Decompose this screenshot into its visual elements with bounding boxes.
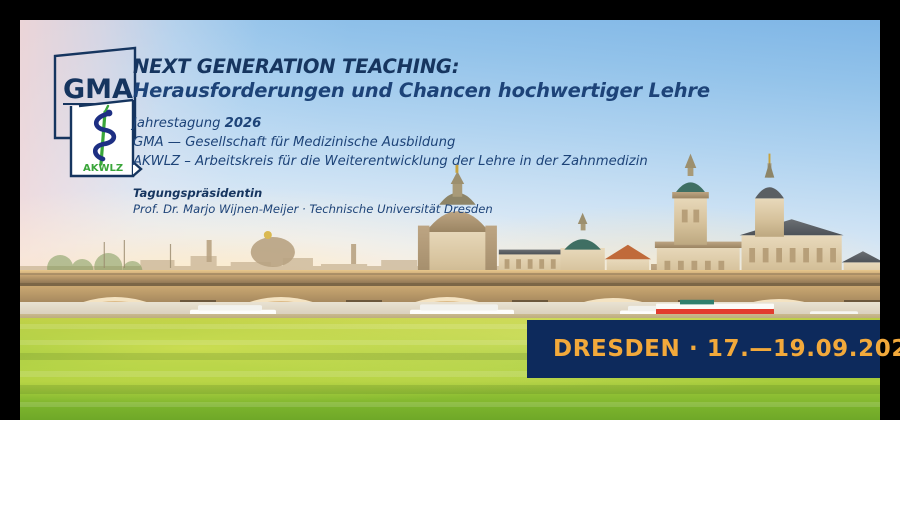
subtitle-line-gma: GMA — Gesellschaft für Medizinische Ausb… (133, 134, 873, 153)
president-name: Prof. Dr. Marjo Wijnen-Meijer · Technisc… (133, 201, 873, 217)
headline-secondary: Herausforderungen und Chancen hochwertig… (133, 79, 873, 103)
subtitle-line-akwlz: AKWLZ – Arbeitskreis für die Weiterentwi… (133, 153, 873, 172)
poster-canvas: GMA 2026 AKWLZ NEXT GENERATION TEACHING:… (0, 0, 900, 506)
subtitle-line-jahrestagung: Jahrestagung 2026 (133, 115, 873, 134)
president-label: Tagungspräsidentin (133, 186, 873, 202)
president-block: Tagungspräsidentin Prof. Dr. Marjo Wijne… (133, 186, 873, 218)
date-location-banner: DRESDEN · 17.—19.09.2026 (527, 320, 880, 378)
subtitle-block: Jahrestagung 2026 GMA — Gesellschaft für… (133, 115, 873, 171)
logo-akwlz-text: AKWLZ (83, 163, 123, 174)
footer-bar: TECHNISCHE UNIVERSITÄT DRESDEN GMA (0, 420, 900, 506)
date-location-text: DRESDEN · 17.—19.09.2026 (553, 336, 900, 362)
poster-text-block: NEXT GENERATION TEACHING: Herausforderun… (133, 56, 873, 218)
headline-primary: NEXT GENERATION TEACHING: (133, 56, 873, 79)
